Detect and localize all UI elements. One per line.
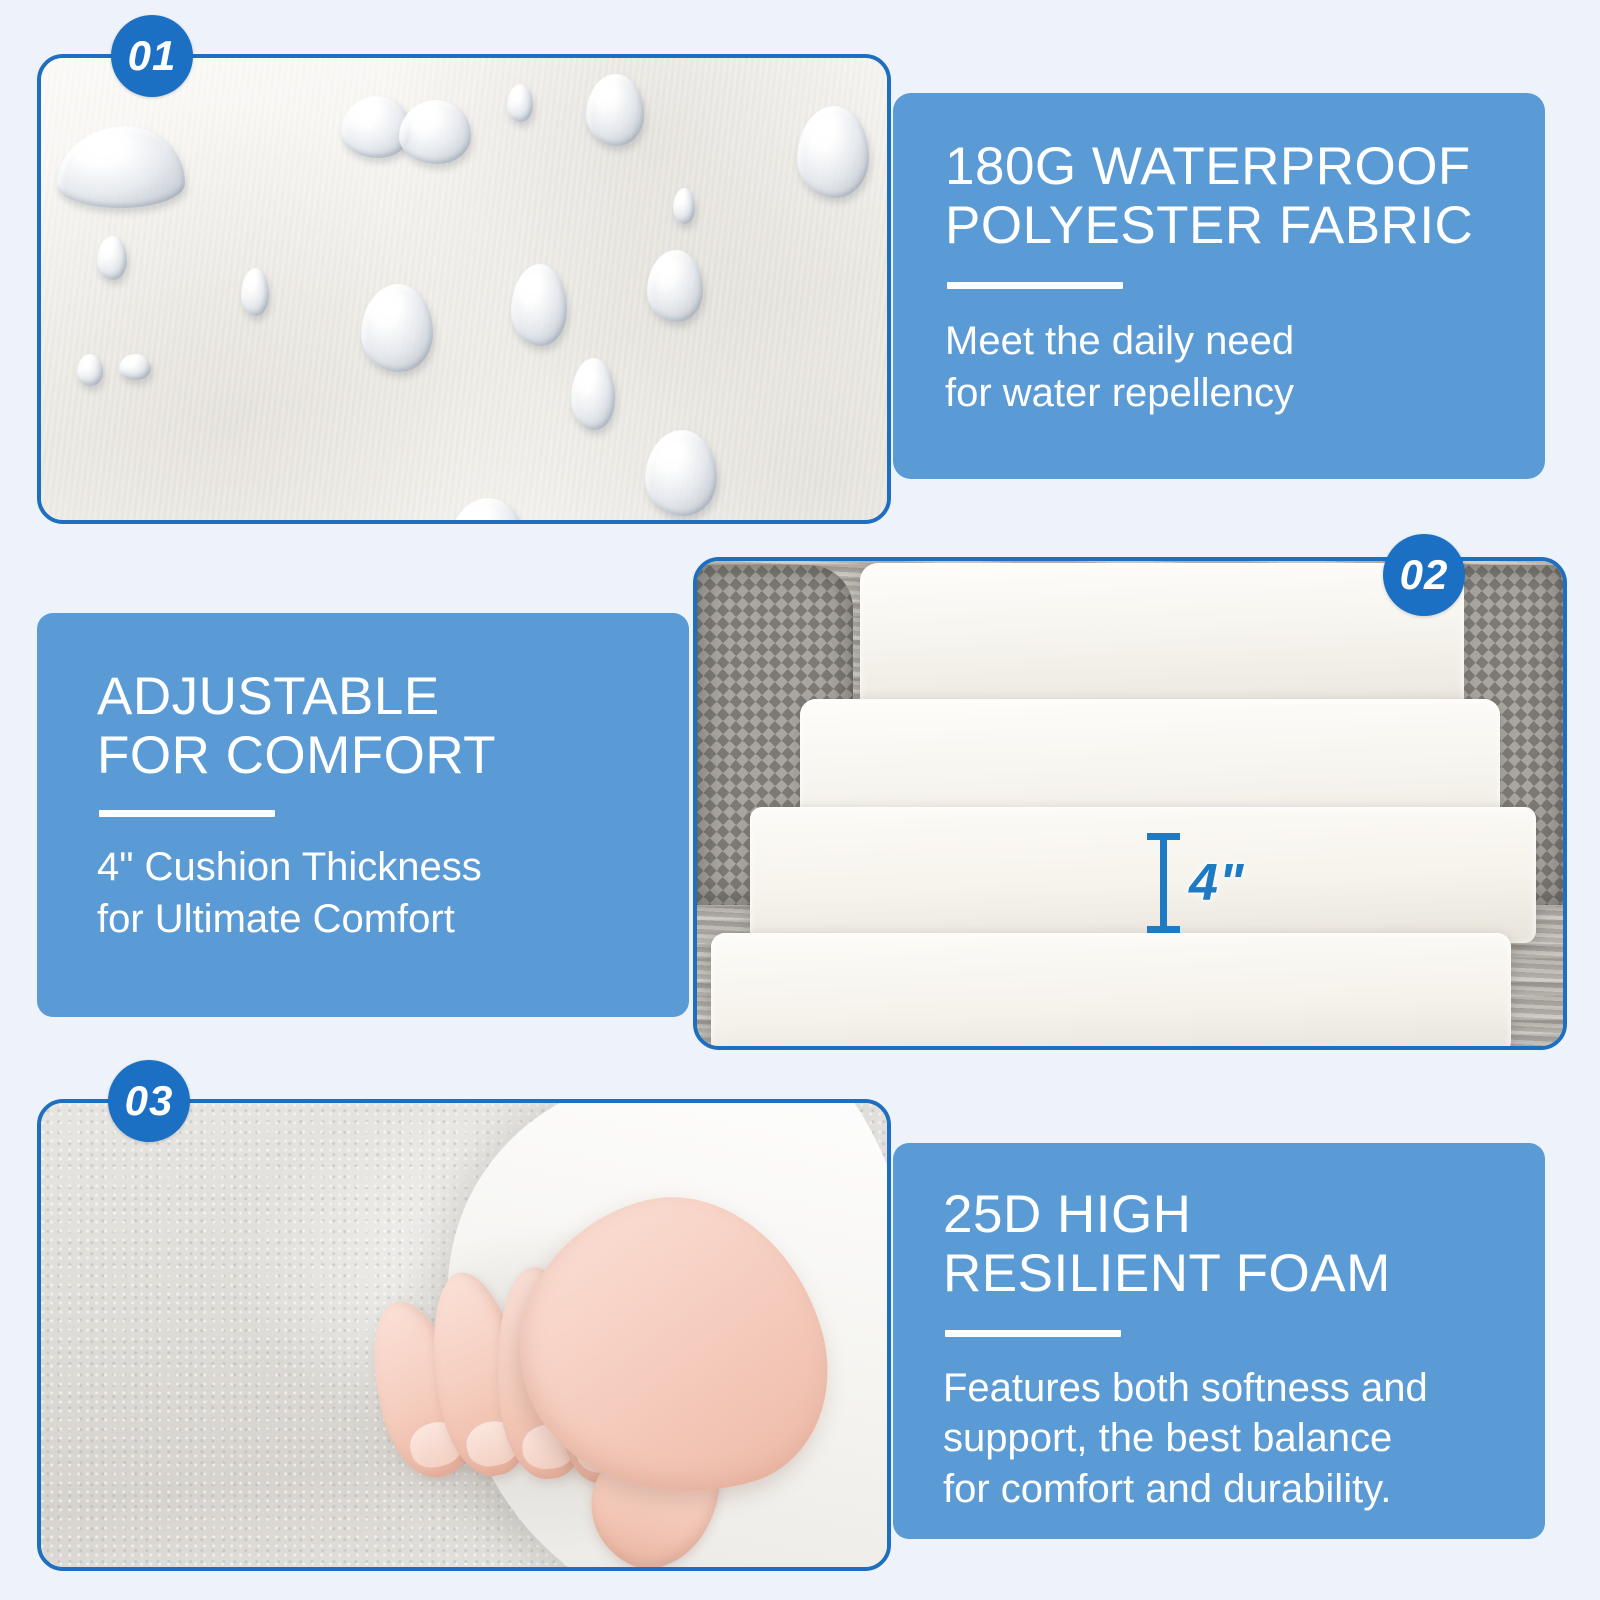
water-droplet bbox=[399, 100, 471, 164]
thickness-dimension-line bbox=[1160, 833, 1167, 933]
foam-photo-inner bbox=[41, 1103, 887, 1567]
panel-title: 25D HIGH RESILIENT FOAM bbox=[943, 1185, 1525, 1304]
step-number-badge-01: 01 bbox=[111, 15, 193, 97]
step-number-badge-03: 03 bbox=[108, 1060, 190, 1142]
adjustable-comfort-text-card: ADJUSTABLE FOR COMFORT 4" Cushion Thickn… bbox=[37, 613, 689, 1017]
title-divider bbox=[947, 282, 1123, 289]
water-droplet bbox=[77, 354, 103, 386]
water-droplet bbox=[97, 236, 127, 280]
water-droplet bbox=[507, 84, 533, 122]
water-droplet bbox=[645, 430, 717, 516]
panel-body: Features both softness and support, the … bbox=[943, 1363, 1525, 1514]
panel-title: 180G WATERPROOF POLYESTER FABRIC bbox=[945, 137, 1519, 256]
title-divider bbox=[945, 1330, 1121, 1337]
waterproof-fabric-photo bbox=[37, 54, 891, 524]
water-droplet bbox=[571, 358, 615, 430]
water-droplet bbox=[673, 188, 695, 224]
water-droplet bbox=[119, 354, 151, 380]
panel-body: Meet the daily need for water repellency bbox=[945, 315, 1519, 419]
card-content: ADJUSTABLE FOR COMFORT 4" Cushion Thickn… bbox=[97, 667, 665, 945]
waterproof-fabric-text-card: 180G WATERPROOF POLYESTER FABRIC Meet th… bbox=[893, 93, 1545, 479]
water-droplet bbox=[511, 264, 567, 346]
water-droplet bbox=[361, 284, 433, 372]
title-divider bbox=[99, 810, 275, 817]
panel-title: ADJUSTABLE FOR COMFORT bbox=[97, 667, 665, 786]
water-droplet bbox=[797, 106, 869, 198]
chair-photo-inner: 4" bbox=[697, 561, 1563, 1046]
step-number-badge-02: 02 bbox=[1383, 534, 1465, 616]
card-content: 180G WATERPROOF POLYESTER FABRIC Meet th… bbox=[945, 137, 1519, 419]
panel-body: 4" Cushion Thickness for Ultimate Comfor… bbox=[97, 841, 665, 945]
resilient-foam-text-card: 25D HIGH RESILIENT FOAM Features both so… bbox=[893, 1143, 1545, 1539]
thick-seat-cushion bbox=[750, 807, 1536, 943]
water-droplet bbox=[241, 268, 269, 316]
water-droplet bbox=[647, 250, 703, 322]
infographic-stage: 01 180G WATERPROOF POLYESTER FABRIC Meet… bbox=[0, 0, 1600, 1600]
fabric-photo-inner bbox=[41, 58, 887, 520]
card-content: 25D HIGH RESILIENT FOAM Features both so… bbox=[943, 1185, 1525, 1514]
thickness-annotation-label: 4" bbox=[1189, 853, 1245, 913]
cushion-chair-photo: 4" bbox=[693, 557, 1567, 1050]
water-droplet bbox=[586, 74, 644, 146]
ottoman-cushion bbox=[711, 933, 1511, 1050]
resilient-foam-photo bbox=[37, 1099, 891, 1571]
